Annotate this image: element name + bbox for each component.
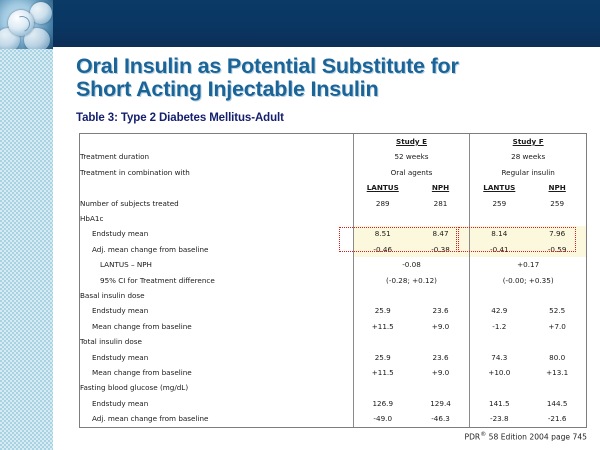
- cell-value: [528, 288, 586, 303]
- source-suffix: 58 Edition 2004 page 745: [486, 433, 587, 442]
- page-title-line-1: Oral Insulin as Potential Substitute for: [76, 54, 459, 78]
- cell-value: -1.2: [470, 319, 529, 334]
- cell-value: -49.0: [353, 411, 412, 427]
- cell-value: +13.1: [528, 365, 586, 380]
- row-label: 95% CI for Treatment difference: [80, 273, 353, 288]
- row-label: Endstudy mean: [80, 396, 353, 411]
- table-row: Fasting blood glucose (mg/dL): [80, 381, 586, 396]
- table-body: Study E Study F Treatment duration 52 we…: [80, 134, 586, 427]
- decorative-top-bar: [53, 0, 600, 47]
- study-header-0: Study E: [353, 134, 470, 149]
- decorative-side-band: [0, 0, 53, 450]
- row-label: Basal insulin dose: [80, 288, 353, 303]
- row-label: Mean change from baseline: [80, 365, 353, 380]
- cell-value: 8.14: [470, 226, 529, 241]
- cell-value: [470, 288, 529, 303]
- table-row: Endstudy mean8.518.478.147.96: [80, 226, 586, 241]
- arm-name: LANTUS: [483, 183, 515, 192]
- cell-value: [353, 211, 412, 226]
- cell-value: [528, 211, 586, 226]
- cell-value: [353, 288, 412, 303]
- cell-value: -0.41: [470, 242, 529, 257]
- cell-value: 126.9: [353, 396, 412, 411]
- empty-corner-cell: [80, 180, 353, 195]
- cell-value: 8.51: [353, 226, 412, 241]
- cell-value: 74.3: [470, 350, 529, 365]
- row-label: Treatment duration: [80, 149, 353, 164]
- table-row-arm-headers: LANTUS NPH LANTUS NPH: [80, 180, 586, 195]
- table-row-study-names: Study E Study F: [80, 134, 586, 149]
- arm-header-f-lantus: LANTUS: [470, 180, 529, 195]
- cell-value: -46.3: [412, 411, 470, 427]
- cell-value: [528, 334, 586, 349]
- cell-value: -0.46: [353, 242, 412, 257]
- cell-value: [412, 211, 470, 226]
- arm-name: LANTUS: [367, 183, 399, 192]
- cell-value: +7.0: [528, 319, 586, 334]
- cell-value: +9.0: [412, 319, 470, 334]
- cell-value: -23.8: [470, 411, 529, 427]
- table-row: Endstudy mean126.9129.4141.5144.5: [80, 396, 586, 411]
- row-label: Fasting blood glucose (mg/dL): [80, 381, 353, 396]
- row-label: HbA1c: [80, 211, 353, 226]
- cell-value: [528, 381, 586, 396]
- arm-header-e-nph: NPH: [412, 180, 470, 195]
- cell-value: 80.0: [528, 350, 586, 365]
- empty-corner-cell: [80, 134, 353, 149]
- cell-value: [470, 381, 529, 396]
- cell-value: +0.17: [470, 257, 586, 272]
- cell-value: 23.6: [412, 350, 470, 365]
- cell-value: 144.5: [528, 396, 586, 411]
- study-name: Study F: [513, 137, 544, 146]
- arm-header-f-nph: NPH: [528, 180, 586, 195]
- arm-header-e-lantus: LANTUS: [353, 180, 412, 195]
- table-row: HbA1c: [80, 211, 586, 226]
- cell-value: [470, 211, 529, 226]
- cell-value: [412, 334, 470, 349]
- row-label: Endstudy mean: [80, 350, 353, 365]
- cell-value: [470, 334, 529, 349]
- pill-bottles-photo: [0, 0, 53, 49]
- source-citation: PDR® 58 Edition 2004 page 745: [465, 431, 588, 442]
- cell-value: 259: [528, 196, 586, 211]
- table-row: LANTUS – NPH-0.08+0.17: [80, 257, 586, 272]
- table-row: Mean change from baseline+11.5+9.0-1.2+7…: [80, 319, 586, 334]
- clinical-data-table: Study E Study F Treatment duration 52 we…: [79, 133, 587, 428]
- arm-name: NPH: [432, 183, 449, 192]
- cell-value: [353, 334, 412, 349]
- row-label: Number of subjects treated: [80, 196, 353, 211]
- row-label: Adj. mean change from baseline: [80, 411, 353, 427]
- study-combination-1: Regular insulin: [470, 165, 586, 180]
- study-duration-0: 52 weeks: [353, 149, 470, 164]
- cell-value: 129.4: [412, 396, 470, 411]
- slide-canvas: Oral Insulin as Potential Substitute for…: [0, 0, 600, 450]
- table-row: Mean change from baseline+11.5+9.0+10.0+…: [80, 365, 586, 380]
- row-label: Treatment in combination with: [80, 165, 353, 180]
- cell-value: 281: [412, 196, 470, 211]
- cell-value: -0.59: [528, 242, 586, 257]
- cell-value: +10.0: [470, 365, 529, 380]
- cell-value: 259: [470, 196, 529, 211]
- table-row: Endstudy mean25.923.674.380.0: [80, 350, 586, 365]
- cell-value: 7.96: [528, 226, 586, 241]
- cell-value: +11.5: [353, 319, 412, 334]
- source-prefix: PDR: [465, 433, 481, 442]
- row-label: Mean change from baseline: [80, 319, 353, 334]
- row-label: Total insulin dose: [80, 334, 353, 349]
- cell-value: (-0.28; +0.12): [353, 273, 470, 288]
- cell-value: 52.5: [528, 303, 586, 318]
- table-row: Endstudy mean25.923.642.952.5: [80, 303, 586, 318]
- cell-value: 25.9: [353, 350, 412, 365]
- cell-value: [412, 288, 470, 303]
- cell-value: -21.6: [528, 411, 586, 427]
- table-row: Basal insulin dose: [80, 288, 586, 303]
- study-duration-1: 28 weeks: [470, 149, 586, 164]
- cell-value: +9.0: [412, 365, 470, 380]
- cell-value: 25.9: [353, 303, 412, 318]
- cell-value: [353, 381, 412, 396]
- cell-value: 42.9: [470, 303, 529, 318]
- table-row-treatment-combination: Treatment in combination with Oral agent…: [80, 165, 586, 180]
- table-row-treatment-duration: Treatment duration 52 weeks 28 weeks: [80, 149, 586, 164]
- study-header-1: Study F: [470, 134, 586, 149]
- cell-value: 289: [353, 196, 412, 211]
- arm-name: NPH: [549, 183, 566, 192]
- table-row: Adj. mean change from baseline-0.46-0.38…: [80, 242, 586, 257]
- study-name: Study E: [396, 137, 427, 146]
- table-row: 95% CI for Treatment difference(-0.28; +…: [80, 273, 586, 288]
- study-combination-0: Oral agents: [353, 165, 470, 180]
- cell-value: [412, 381, 470, 396]
- cell-value: -0.08: [353, 257, 470, 272]
- row-label: Endstudy mean: [80, 303, 353, 318]
- table-row: Number of subjects treated289281259259: [80, 196, 586, 211]
- cell-value: 141.5: [470, 396, 529, 411]
- row-label: LANTUS – NPH: [80, 257, 353, 272]
- title-block: Oral Insulin as Potential Substitute for…: [76, 55, 588, 101]
- row-label: Adj. mean change from baseline: [80, 242, 353, 257]
- table-row: Total insulin dose: [80, 334, 586, 349]
- cell-value: +11.5: [353, 365, 412, 380]
- table: Study E Study F Treatment duration 52 we…: [80, 134, 586, 427]
- cell-value: (-0.00; +0.35): [470, 273, 586, 288]
- table-row: Adj. mean change from baseline-49.0-46.3…: [80, 411, 586, 427]
- table-caption: Table 3: Type 2 Diabetes Mellitus-Adult: [76, 112, 284, 124]
- cell-value: 8.47: [412, 226, 470, 241]
- cell-value: 23.6: [412, 303, 470, 318]
- cell-value: -0.38: [412, 242, 470, 257]
- page-title: Oral Insulin as Potential Substitute for…: [76, 55, 588, 101]
- page-title-line-2: Short Acting Injectable Insulin: [76, 77, 378, 101]
- row-label: Endstudy mean: [80, 226, 353, 241]
